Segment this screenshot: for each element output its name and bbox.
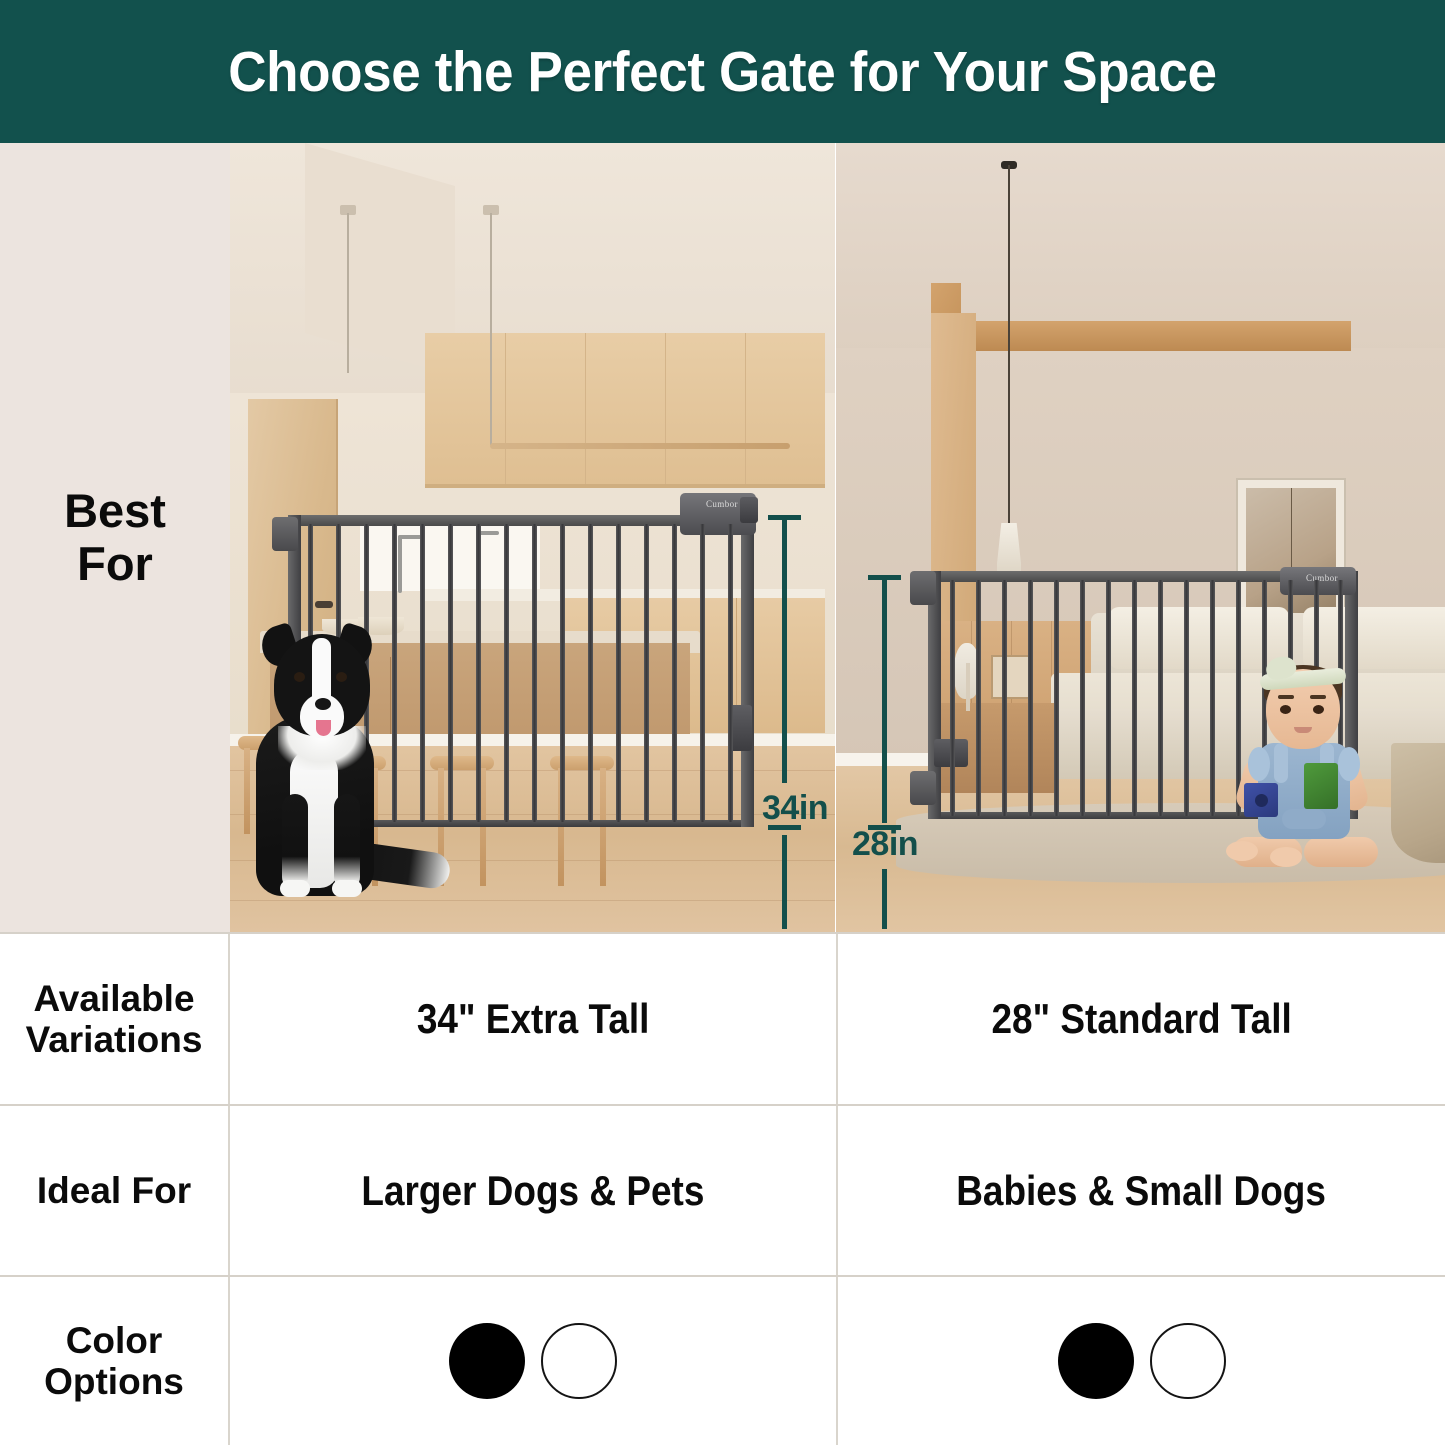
cell-ideal-left: Larger Dogs & Pets <box>230 1106 836 1275</box>
page-title: Choose the Perfect Gate for Your Space <box>228 39 1216 105</box>
measure-cap-bottom-28 <box>868 825 901 830</box>
baby-brow-left <box>1278 695 1294 699</box>
baby-ruffle-left <box>1248 747 1270 781</box>
measure-label-34: 34in <box>762 789 828 828</box>
romper-knot <box>1282 809 1326 829</box>
gate-bracket-top-left <box>272 517 298 551</box>
measure-line-upper-28 <box>882 575 887 823</box>
variation-value-right: 28" Standard Tall <box>991 995 1291 1043</box>
baby-foot-left <box>1226 841 1258 861</box>
baby-strap-left <box>1274 743 1288 783</box>
color-swatch-white[interactable] <box>1150 1323 1226 1399</box>
infographic-page: Choose the Perfect Gate for Your Space B… <box>0 0 1445 1445</box>
row-label-text: Ideal For <box>37 1170 191 1211</box>
toy-block-blue <box>1244 783 1278 817</box>
baby-brow-right <box>1310 695 1326 699</box>
gate-latch-nub <box>740 497 758 523</box>
dog-paw-right <box>332 880 362 897</box>
ideal-value-left: Larger Dogs & Pets <box>361 1167 704 1215</box>
row-label-available-variations: Available Variations <box>0 934 230 1104</box>
row-label-text: Color Options <box>44 1320 184 1403</box>
measurement-28in: 28in <box>852 143 932 932</box>
color-swatch-group-left <box>449 1323 617 1399</box>
pendant-cord-1 <box>347 213 349 373</box>
border-collie-dog <box>238 598 468 898</box>
header-banner: Choose the Perfect Gate for Your Space <box>0 0 1445 143</box>
best-for-row: Best For <box>0 143 1445 932</box>
color-swatch-group-right <box>1058 1323 1226 1399</box>
row-label-best-for: Best For <box>0 143 230 932</box>
cell-colors-right <box>836 1277 1445 1445</box>
pendant-cord-2 <box>490 213 492 445</box>
brand-mark-label: Cumbor <box>1306 573 1338 583</box>
dog-tongue <box>316 720 331 736</box>
baby-with-blocks <box>1226 651 1386 901</box>
row-label-ideal-for: Ideal For <box>0 1106 230 1275</box>
measure-line-upper-34 <box>782 515 787 783</box>
kitchen-light-bar <box>490 443 790 449</box>
brand-mark-label: Cumbor <box>706 499 738 509</box>
row-label-text: Available Variations <box>26 978 203 1061</box>
variation-value-left: 34" Extra Tall <box>417 995 650 1043</box>
measure-line-lower-28 <box>882 869 887 929</box>
dog-paw-left <box>280 880 310 897</box>
measure-line-lower-34 <box>782 835 787 929</box>
baby-ruffle-right <box>1338 747 1360 781</box>
left-scene-kitchen: Cumbor <box>230 143 835 932</box>
cell-variations-right: 28" Standard Tall <box>836 934 1445 1104</box>
ideal-for-row: Ideal For Larger Dogs & Pets Babies & Sm… <box>0 1104 1445 1275</box>
measure-cap-bottom-34 <box>768 825 801 830</box>
dog-eye-left <box>294 672 305 682</box>
crown-molding <box>931 321 1351 351</box>
row-label-text: Best For <box>64 485 166 590</box>
gate-post-right <box>741 515 754 827</box>
color-swatch-black[interactable] <box>449 1323 525 1399</box>
cell-colors-left <box>230 1277 836 1445</box>
baby-foot-right <box>1270 847 1302 867</box>
toy-block-green <box>1304 763 1338 809</box>
dog-eye-right <box>336 672 347 682</box>
ideal-value-right: Babies & Small Dogs <box>957 1167 1327 1215</box>
color-swatch-white[interactable] <box>541 1323 617 1399</box>
row-label-color-options: Color Options <box>0 1277 230 1445</box>
dog-nose <box>315 698 331 710</box>
available-variations-row: Available Variations 34" Extra Tall 28" … <box>0 932 1445 1104</box>
measure-label-28: 28in <box>852 825 918 864</box>
color-options-row: Color Options <box>0 1275 1445 1445</box>
baby-eye-left <box>1280 705 1291 714</box>
cell-variations-left: 34" Extra Tall <box>230 934 836 1104</box>
cell-ideal-right: Babies & Small Dogs <box>836 1106 1445 1275</box>
pendant-cord <box>1008 165 1010 525</box>
pendant-lamp-shade <box>997 523 1021 575</box>
color-swatch-black[interactable] <box>1058 1323 1134 1399</box>
dog-front-leg-right <box>334 794 360 890</box>
baby-leg-right <box>1304 837 1378 867</box>
dog-front-leg-left <box>282 794 308 890</box>
baby-eye-right <box>1313 705 1324 714</box>
throw-blanket <box>1391 743 1445 863</box>
measurement-34in: 34in <box>760 143 840 932</box>
